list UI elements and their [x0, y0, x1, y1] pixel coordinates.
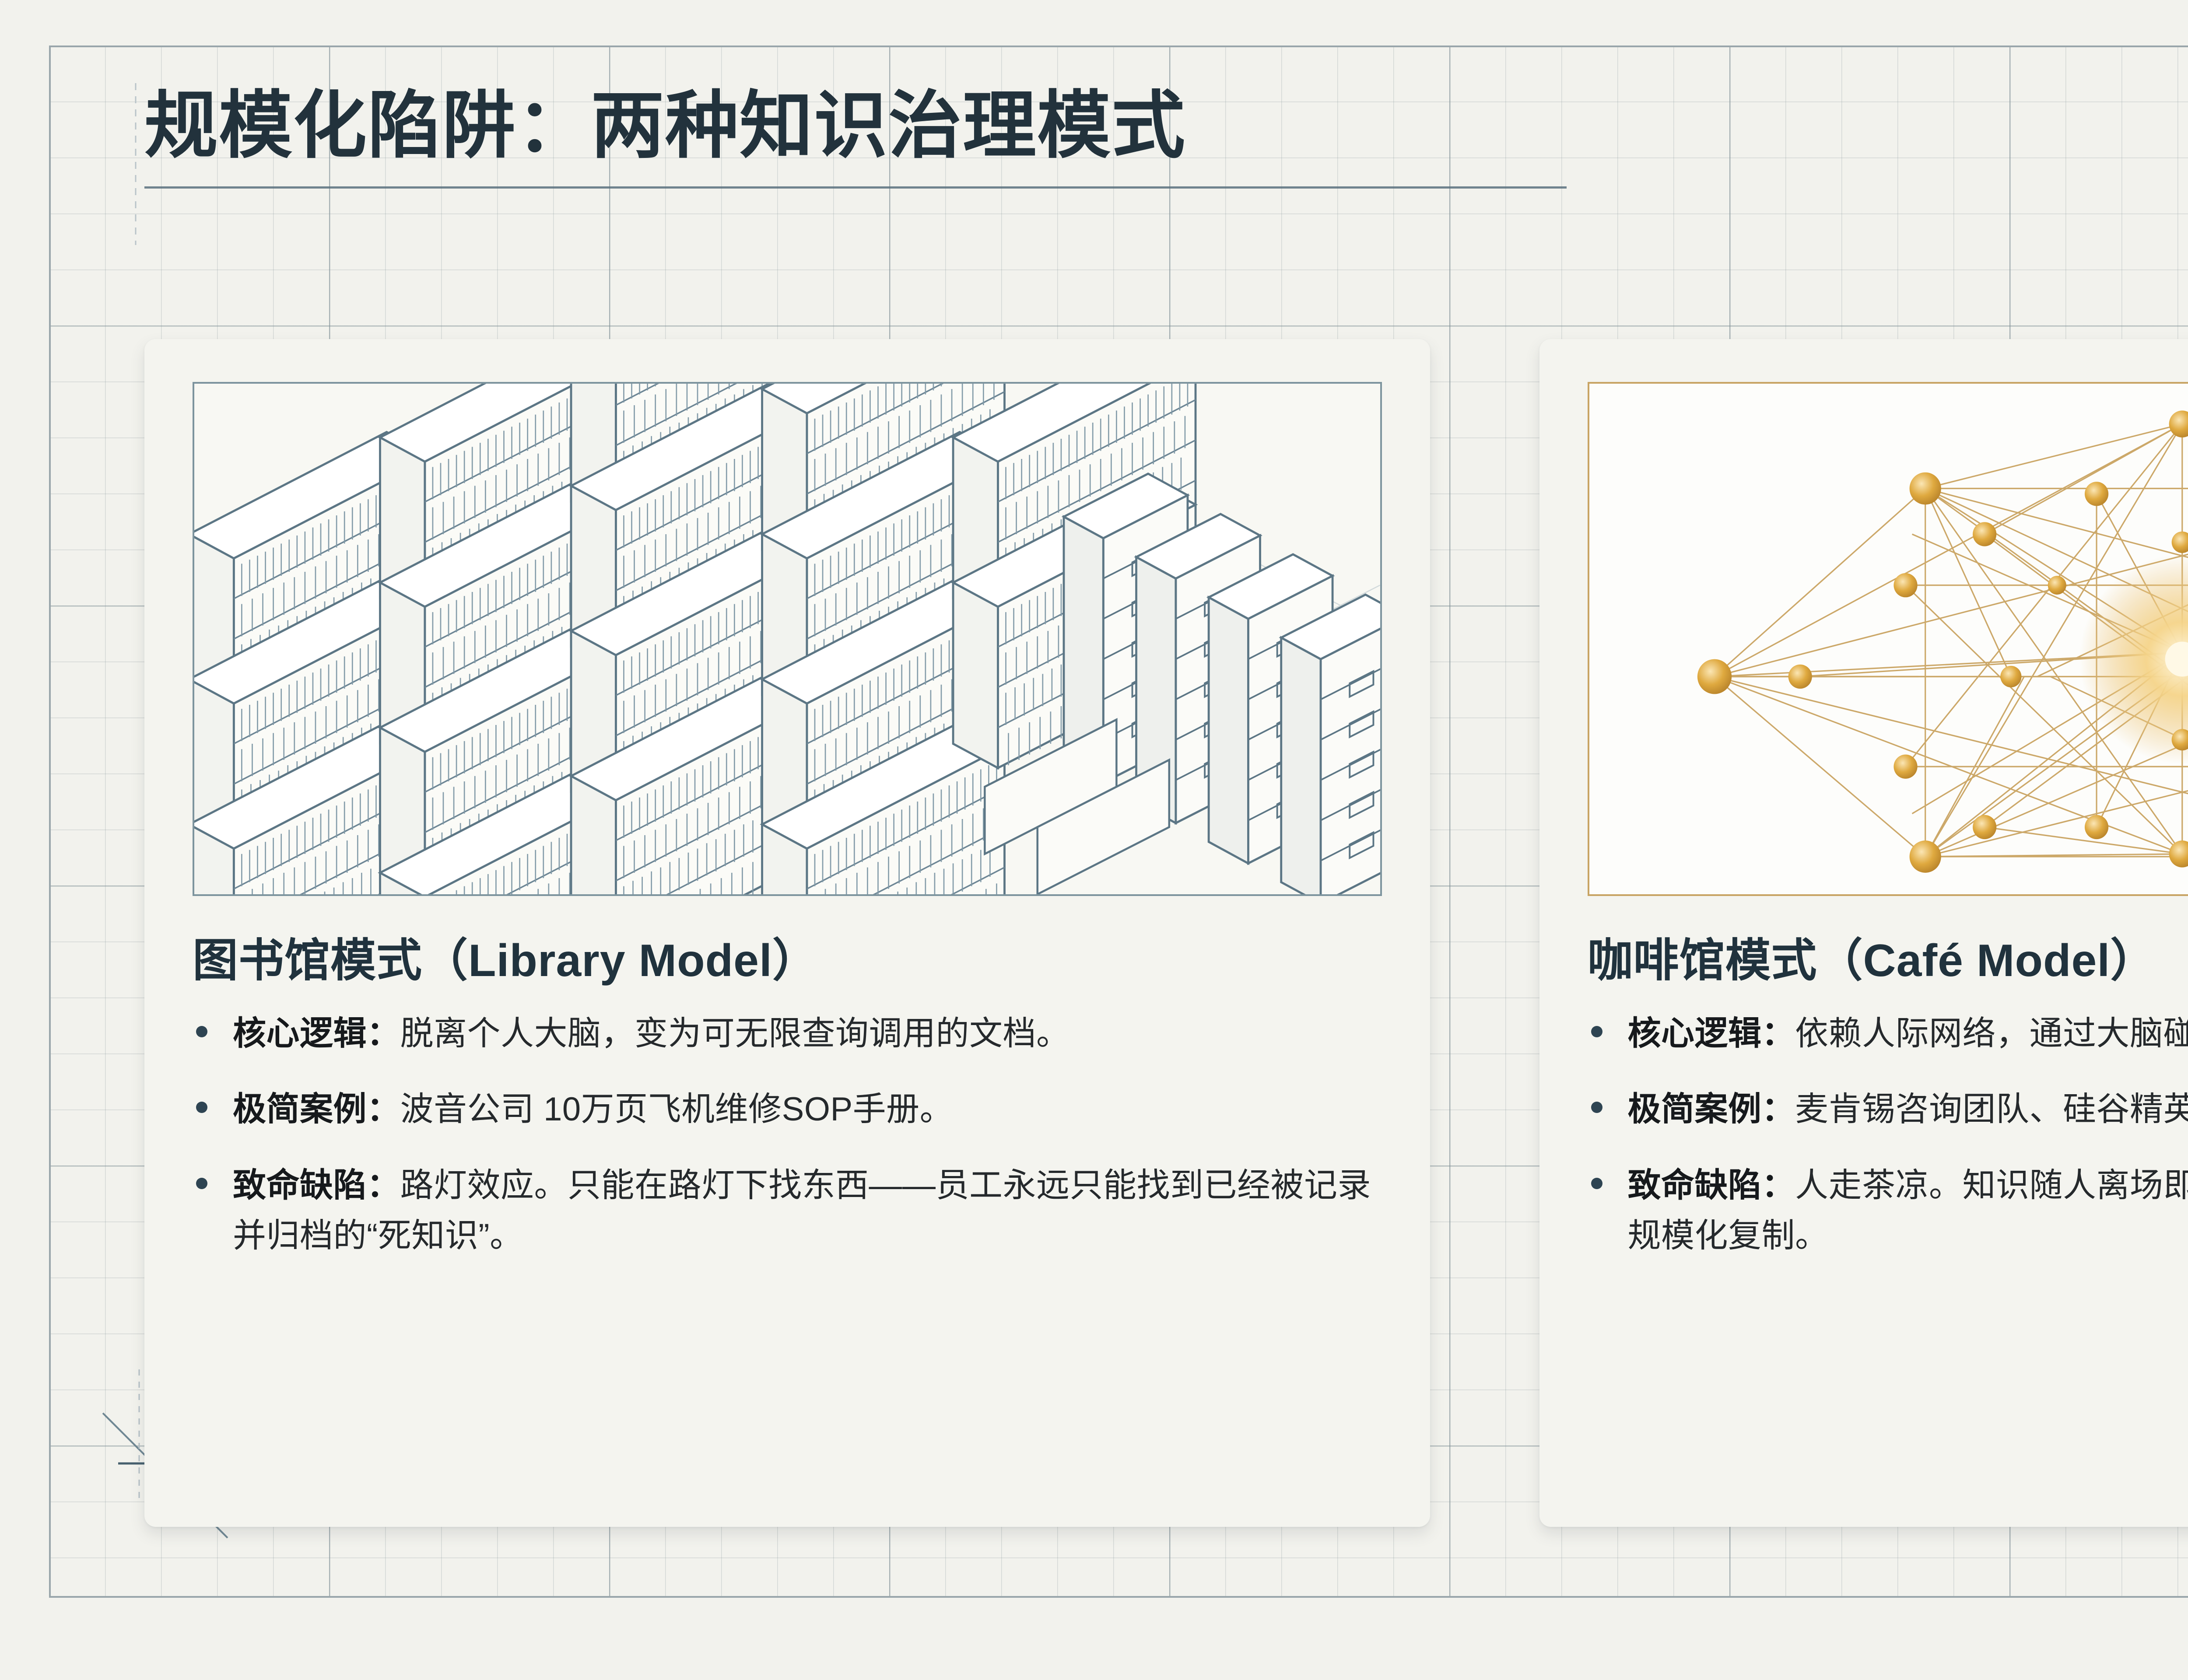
bullet-label: 核心逻辑： [1628, 1015, 1795, 1052]
bullet-list-cafe: 核心逻辑：依赖人际网络，通过大脑碰撞产生闪电，专解未知难题。 极简案例：麦肯锡咨… [1588, 1008, 2188, 1261]
card-cafe-model[interactable]: 咖啡馆模式（Café Model） 核心逻辑：依赖人际网络，通过大脑碰撞产生闪电… [1539, 339, 2188, 1527]
bullet-item: 核心逻辑：脱离个人大脑，变为可无限查询调用的文档。 [193, 1008, 1382, 1059]
bullet-text: 麦肯锡咨询团队、硅谷精英研发中心。 [1795, 1091, 2188, 1128]
card-library-model[interactable]: 图书馆模式（Library Model） 核心逻辑：脱离个人大脑，变为可无限查询… [144, 339, 1430, 1527]
bullet-item: 极简案例：麦肯锡咨询团队、硅谷精英研发中心。 [1588, 1084, 2188, 1135]
isometric-library-bookshelves-illustration [194, 384, 1380, 894]
bullet-text: 路灯效应。只能在路灯下找东西——员工永远只能找到已经被记录并归档的“死知识”。 [233, 1167, 1371, 1255]
title-block: 规模化陷阱：两种知识治理模式 [144, 83, 2188, 189]
slide-root: 规模化陷阱：两种知识治理模式 [0, 0, 2188, 1680]
bullet-dot-icon [1591, 1026, 1602, 1037]
title-underline-rule [144, 186, 1567, 189]
library-illustration-frame [193, 382, 1382, 896]
bullet-dot-icon [196, 1026, 207, 1037]
bullet-item: 核心逻辑：依赖人际网络，通过大脑碰撞产生闪电，专解未知难题。 [1588, 1008, 2188, 1059]
bullet-text: 波音公司 10万页飞机维修SOP手册。 [400, 1091, 954, 1128]
bullet-label: 极简案例： [233, 1091, 400, 1128]
bullet-dot-icon [196, 1102, 207, 1113]
bullet-item: 极简案例：波音公司 10万页飞机维修SOP手册。 [193, 1084, 1382, 1135]
golden-network-nodes-illustration [1589, 384, 2188, 894]
page-title: 规模化陷阱：两种知识治理模式 [144, 83, 2188, 170]
bullet-label: 核心逻辑： [233, 1015, 400, 1052]
bullet-dot-icon [1591, 1178, 1602, 1189]
bullet-label: 致命缺陷： [1628, 1167, 1795, 1204]
card-heading-cafe: 咖啡馆模式（Café Model） [1588, 934, 2188, 988]
bullet-label: 致命缺陷： [233, 1167, 400, 1204]
bullet-label: 极简案例： [1628, 1091, 1795, 1128]
bullet-list-library: 核心逻辑：脱离个人大脑，变为可无限查询调用的文档。 极简案例：波音公司 10万页… [193, 1008, 1382, 1261]
bullet-dot-icon [196, 1178, 207, 1189]
card-heading-library: 图书馆模式（Library Model） [193, 934, 1382, 988]
bullet-text: 依赖人际网络，通过大脑碰撞产生闪电，专解未知难题。 [1795, 1015, 2188, 1052]
bullet-text: 脱离个人大脑，变为可无限查询调用的文档。 [400, 1015, 1070, 1052]
network-illustration-frame [1588, 382, 2188, 896]
bullet-dot-icon [1591, 1102, 1602, 1113]
cards-container: 图书馆模式（Library Model） 核心逻辑：脱离个人大脑，变为可无限查询… [144, 339, 2188, 1527]
bullet-item: 致命缺陷：人走茶凉。知识随人离场即刻冷却；极高沟通成本，传统大厂难以规模化复制。 [1588, 1160, 2188, 1261]
bullet-item: 致命缺陷：路灯效应。只能在路灯下找东西——员工永远只能找到已经被记录并归档的“死… [193, 1160, 1382, 1261]
